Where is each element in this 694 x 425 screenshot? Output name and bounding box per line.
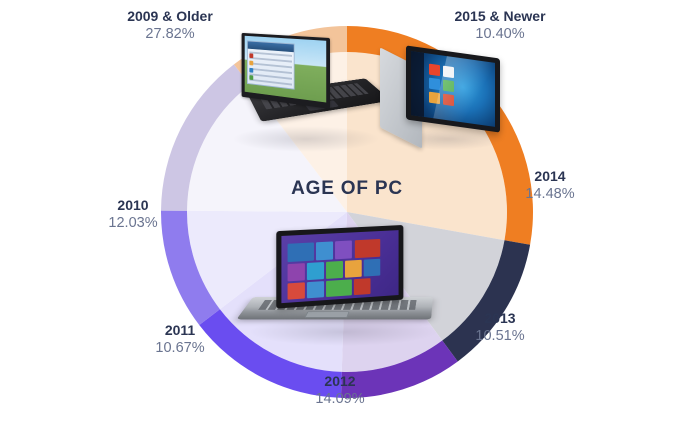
slice-label-2013: 2013 10.51% bbox=[445, 310, 555, 346]
pie-inner-slice-2009-older bbox=[347, 52, 507, 240]
slice-label-2015-and-newer-value: 10.40% bbox=[425, 26, 575, 44]
slice-label-2011-value: 10.67% bbox=[125, 340, 235, 358]
slice-label-2015-and-newer-name: 2015 & Newer bbox=[425, 8, 575, 25]
slice-label-2011-name: 2011 bbox=[125, 322, 235, 339]
slice-label-2014: 2014 14.48% bbox=[495, 168, 605, 204]
slice-label-2014-value: 14.48% bbox=[495, 186, 605, 204]
slice-label-2012-value: 14.09% bbox=[285, 391, 395, 409]
slice-label-2009-and-older-name: 2009 & Older bbox=[95, 8, 245, 25]
slice-label-2011: 2011 10.67% bbox=[125, 322, 235, 358]
pie-chart: AGE OF PC 2009 & Older 27.82% 2015 & New… bbox=[0, 0, 694, 425]
slice-label-2009-and-older: 2009 & Older 27.82% bbox=[95, 8, 245, 44]
slice-label-2010-value: 12.03% bbox=[78, 215, 188, 233]
slice-label-2009-and-older-value: 27.82% bbox=[95, 26, 245, 44]
slice-label-2015-and-newer: 2015 & Newer 10.40% bbox=[425, 8, 575, 44]
slice-label-2012: 2012 14.09% bbox=[285, 373, 395, 409]
slice-label-2013-value: 10.51% bbox=[445, 328, 555, 346]
slice-label-2010: 2010 12.03% bbox=[78, 197, 188, 233]
slice-label-2012-name: 2012 bbox=[285, 373, 395, 390]
slice-label-2014-name: 2014 bbox=[495, 168, 605, 185]
slice-label-2013-name: 2013 bbox=[445, 310, 555, 327]
slice-label-2010-name: 2010 bbox=[78, 197, 188, 214]
